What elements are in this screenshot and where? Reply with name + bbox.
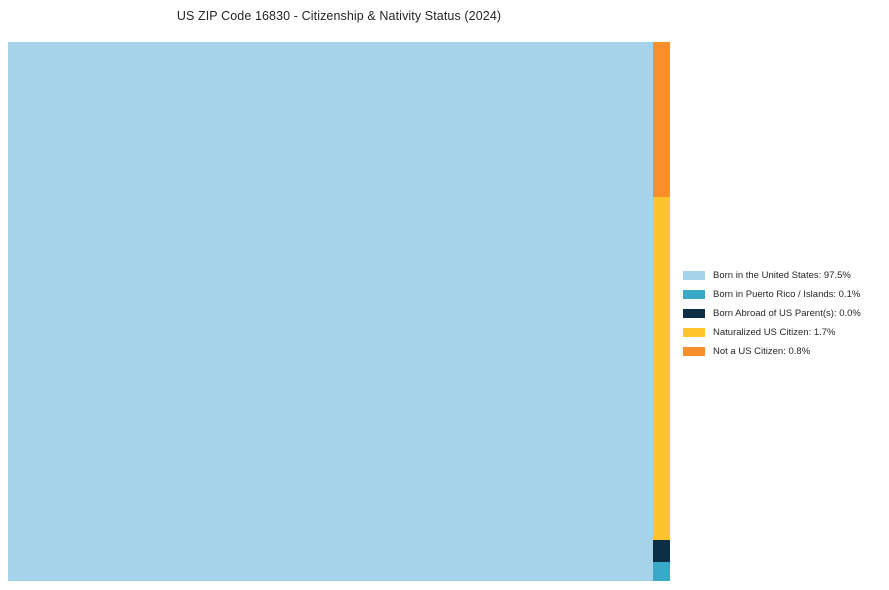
legend-item[interactable]: Born in Puerto Rico / Islands: 0.1% [683, 285, 883, 304]
legend-item[interactable]: Born Abroad of US Parent(s): 0.0% [683, 304, 883, 323]
legend-swatch-icon [683, 271, 705, 280]
treemap-tile-not-a-us-citizen[interactable] [653, 42, 670, 197]
legend-item[interactable]: Born in the United States: 97.5% [683, 266, 883, 285]
legend-item[interactable]: Not a US Citizen: 0.8% [683, 342, 883, 361]
treemap-tile-naturalized-us-citizen[interactable] [653, 197, 670, 540]
treemap-tile-born-in-the-united-states[interactable] [8, 42, 653, 581]
legend-item-label: Born Abroad of US Parent(s): 0.0% [713, 309, 861, 319]
legend-item[interactable]: Naturalized US Citizen: 1.7% [683, 323, 883, 342]
chart-legend: Born in the United States: 97.5% Born in… [683, 266, 883, 361]
chart-title: US ZIP Code 16830 - Citizenship & Nativi… [0, 9, 678, 23]
legend-item-label: Not a US Citizen: 0.8% [713, 347, 810, 357]
legend-item-label: Born in the United States: 97.5% [713, 271, 851, 281]
legend-swatch-icon [683, 309, 705, 318]
treemap-figure: US ZIP Code 16830 - Citizenship & Nativi… [0, 0, 889, 590]
treemap-tile-born-in-puerto-rico-islands[interactable] [653, 562, 670, 581]
legend-item-label: Born in Puerto Rico / Islands: 0.1% [713, 290, 860, 300]
treemap-plot-area [8, 42, 670, 581]
legend-swatch-icon [683, 347, 705, 356]
legend-item-label: Naturalized US Citizen: 1.7% [713, 328, 836, 338]
legend-swatch-icon [683, 290, 705, 299]
legend-swatch-icon [683, 328, 705, 337]
treemap-tile-born-abroad-of-us-parents[interactable] [653, 540, 670, 562]
